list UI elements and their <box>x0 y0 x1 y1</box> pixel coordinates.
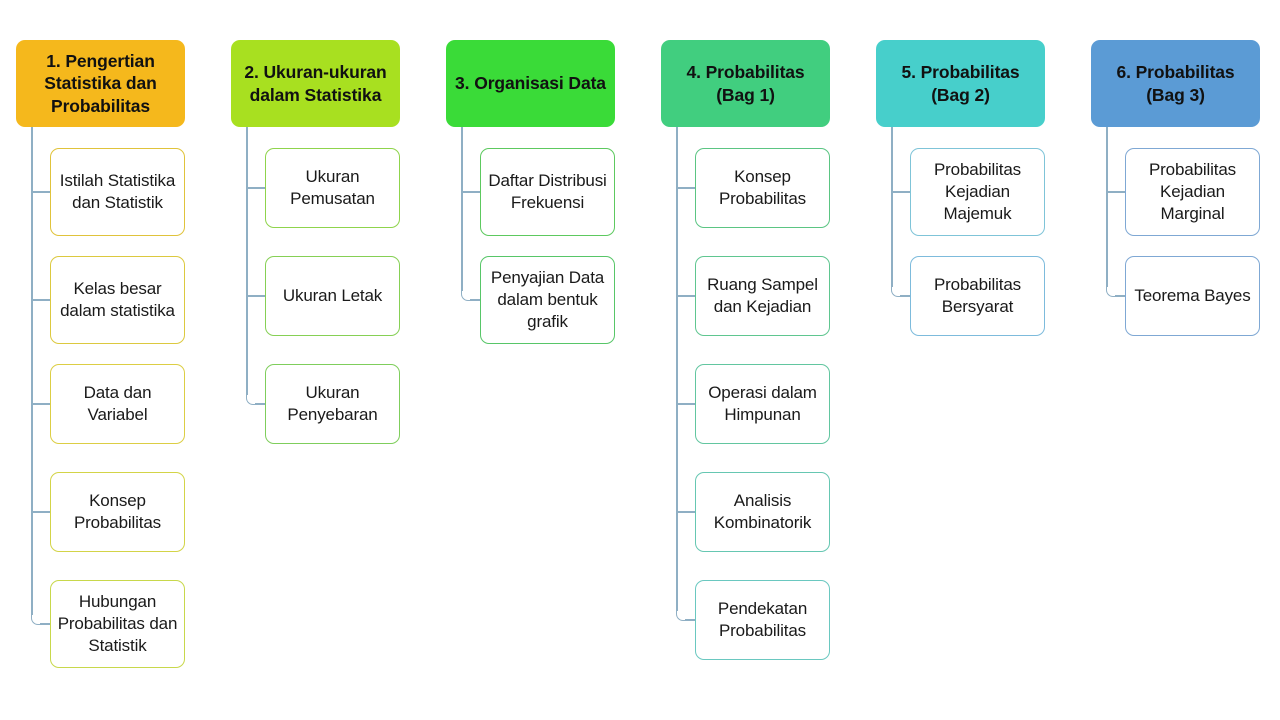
child-node-label: Istilah Statistika dan Statistik <box>56 170 179 214</box>
branch-6-child-1[interactable]: Probabilitas Kejadian Marginal <box>1125 148 1260 236</box>
child-node-label: Ruang Sampel dan Kejadian <box>701 274 824 318</box>
branch-4-child-5[interactable]: Pendekatan Probabilitas <box>695 580 830 660</box>
connector-stub <box>31 403 50 405</box>
connector-stub <box>246 187 265 189</box>
connector-trunk <box>246 127 248 395</box>
branch-4-child-3[interactable]: Operasi dalam Himpunan <box>695 364 830 444</box>
child-node-label: Ukuran Penyebaran <box>271 382 394 426</box>
branch-header-4[interactable]: 4. Probabilitas (Bag 1) <box>661 40 830 127</box>
branch-header-3[interactable]: 3. Organisasi Data <box>446 40 615 127</box>
branch-header-label: 1. Pengertian Statistika dan Probabilita… <box>22 50 179 117</box>
connector-stub <box>676 403 695 405</box>
branch-column-3: 3. Organisasi DataDaftar Distribusi Frek… <box>430 0 645 720</box>
branch-header-label: 6. Probabilitas (Bag 3) <box>1097 61 1254 106</box>
branch-1-child-5[interactable]: Hubungan Probabilitas dan Statistik <box>50 580 185 668</box>
branch-3-child-2[interactable]: Penyajian Data dalam bentuk grafik <box>480 256 615 344</box>
branch-column-4: 4. Probabilitas (Bag 1)Konsep Probabilit… <box>645 0 860 720</box>
child-node-label: Probabilitas Bersyarat <box>916 274 1039 318</box>
connector-elbow <box>31 615 41 625</box>
branch-2-child-2[interactable]: Ukuran Letak <box>265 256 400 336</box>
branch-2-child-1[interactable]: Ukuran Pemusatan <box>265 148 400 228</box>
connector-stub <box>685 619 695 621</box>
branch-column-5: 5. Probabilitas (Bag 2)Probabilitas Keja… <box>860 0 1075 720</box>
connector-stub <box>676 511 695 513</box>
branch-1-child-4[interactable]: Konsep Probabilitas <box>50 472 185 552</box>
connector-trunk <box>1106 127 1108 287</box>
child-node-label: Analisis Kombinatorik <box>701 490 824 534</box>
child-node-label: Probabilitas Kejadian Marginal <box>1131 159 1254 225</box>
connector-stub <box>40 623 50 625</box>
child-node-label: Konsep Probabilitas <box>56 490 179 534</box>
branch-4-child-2[interactable]: Ruang Sampel dan Kejadian <box>695 256 830 336</box>
branch-header-label: 5. Probabilitas (Bag 2) <box>882 61 1039 106</box>
branch-header-2[interactable]: 2. Ukuran-ukuran dalam Statistika <box>231 40 400 127</box>
branch-header-1[interactable]: 1. Pengertian Statistika dan Probabilita… <box>16 40 185 127</box>
connector-stub <box>31 191 50 193</box>
branch-header-label: 3. Organisasi Data <box>455 72 606 94</box>
connector-elbow <box>1106 287 1116 297</box>
branch-header-label: 2. Ukuran-ukuran dalam Statistika <box>237 61 394 106</box>
branch-4-child-4[interactable]: Analisis Kombinatorik <box>695 472 830 552</box>
connector-stub <box>900 295 910 297</box>
child-node-label: Probabilitas Kejadian Majemuk <box>916 159 1039 225</box>
connector-stub <box>246 295 265 297</box>
connector-stub <box>1106 191 1125 193</box>
concept-map-diagram: 1. Pengertian Statistika dan Probabilita… <box>0 0 1280 720</box>
connector-trunk <box>676 127 678 611</box>
connector-elbow <box>891 287 901 297</box>
connector-stub <box>470 299 480 301</box>
connector-stub <box>31 511 50 513</box>
connector-stub <box>1115 295 1125 297</box>
branch-column-2: 2. Ukuran-ukuran dalam StatistikaUkuran … <box>215 0 430 720</box>
branch-5-child-2[interactable]: Probabilitas Bersyarat <box>910 256 1045 336</box>
connector-trunk <box>891 127 893 287</box>
connector-elbow <box>461 291 471 301</box>
connector-elbow <box>676 611 686 621</box>
branch-header-label: 4. Probabilitas (Bag 1) <box>667 61 824 106</box>
connector-trunk <box>31 127 33 615</box>
child-node-label: Operasi dalam Himpunan <box>701 382 824 426</box>
child-node-label: Penyajian Data dalam bentuk grafik <box>486 267 609 333</box>
connector-stub <box>31 299 50 301</box>
branch-header-5[interactable]: 5. Probabilitas (Bag 2) <box>876 40 1045 127</box>
connector-trunk <box>461 127 463 291</box>
branch-2-child-3[interactable]: Ukuran Penyebaran <box>265 364 400 444</box>
child-node-label: Ukuran Pemusatan <box>271 166 394 210</box>
child-node-label: Konsep Probabilitas <box>701 166 824 210</box>
branch-4-child-1[interactable]: Konsep Probabilitas <box>695 148 830 228</box>
branch-1-child-2[interactable]: Kelas besar dalam statistika <box>50 256 185 344</box>
connector-stub <box>255 403 265 405</box>
branch-column-1: 1. Pengertian Statistika dan Probabilita… <box>0 0 215 720</box>
branch-5-child-1[interactable]: Probabilitas Kejadian Majemuk <box>910 148 1045 236</box>
connector-stub <box>891 191 910 193</box>
connector-stub <box>676 295 695 297</box>
branch-6-child-2[interactable]: Teorema Bayes <box>1125 256 1260 336</box>
branch-1-child-1[interactable]: Istilah Statistika dan Statistik <box>50 148 185 236</box>
branch-1-child-3[interactable]: Data dan Variabel <box>50 364 185 444</box>
child-node-label: Daftar Distribusi Frekuensi <box>486 170 609 214</box>
branch-column-6: 6. Probabilitas (Bag 3)Probabilitas Keja… <box>1075 0 1280 720</box>
connector-stub <box>461 191 480 193</box>
branch-header-6[interactable]: 6. Probabilitas (Bag 3) <box>1091 40 1260 127</box>
child-node-label: Hubungan Probabilitas dan Statistik <box>56 591 179 657</box>
child-node-label: Teorema Bayes <box>1134 285 1250 307</box>
connector-stub <box>676 187 695 189</box>
branch-3-child-1[interactable]: Daftar Distribusi Frekuensi <box>480 148 615 236</box>
child-node-label: Ukuran Letak <box>283 285 382 307</box>
child-node-label: Data dan Variabel <box>56 382 179 426</box>
child-node-label: Pendekatan Probabilitas <box>701 598 824 642</box>
connector-elbow <box>246 395 256 405</box>
child-node-label: Kelas besar dalam statistika <box>56 278 179 322</box>
